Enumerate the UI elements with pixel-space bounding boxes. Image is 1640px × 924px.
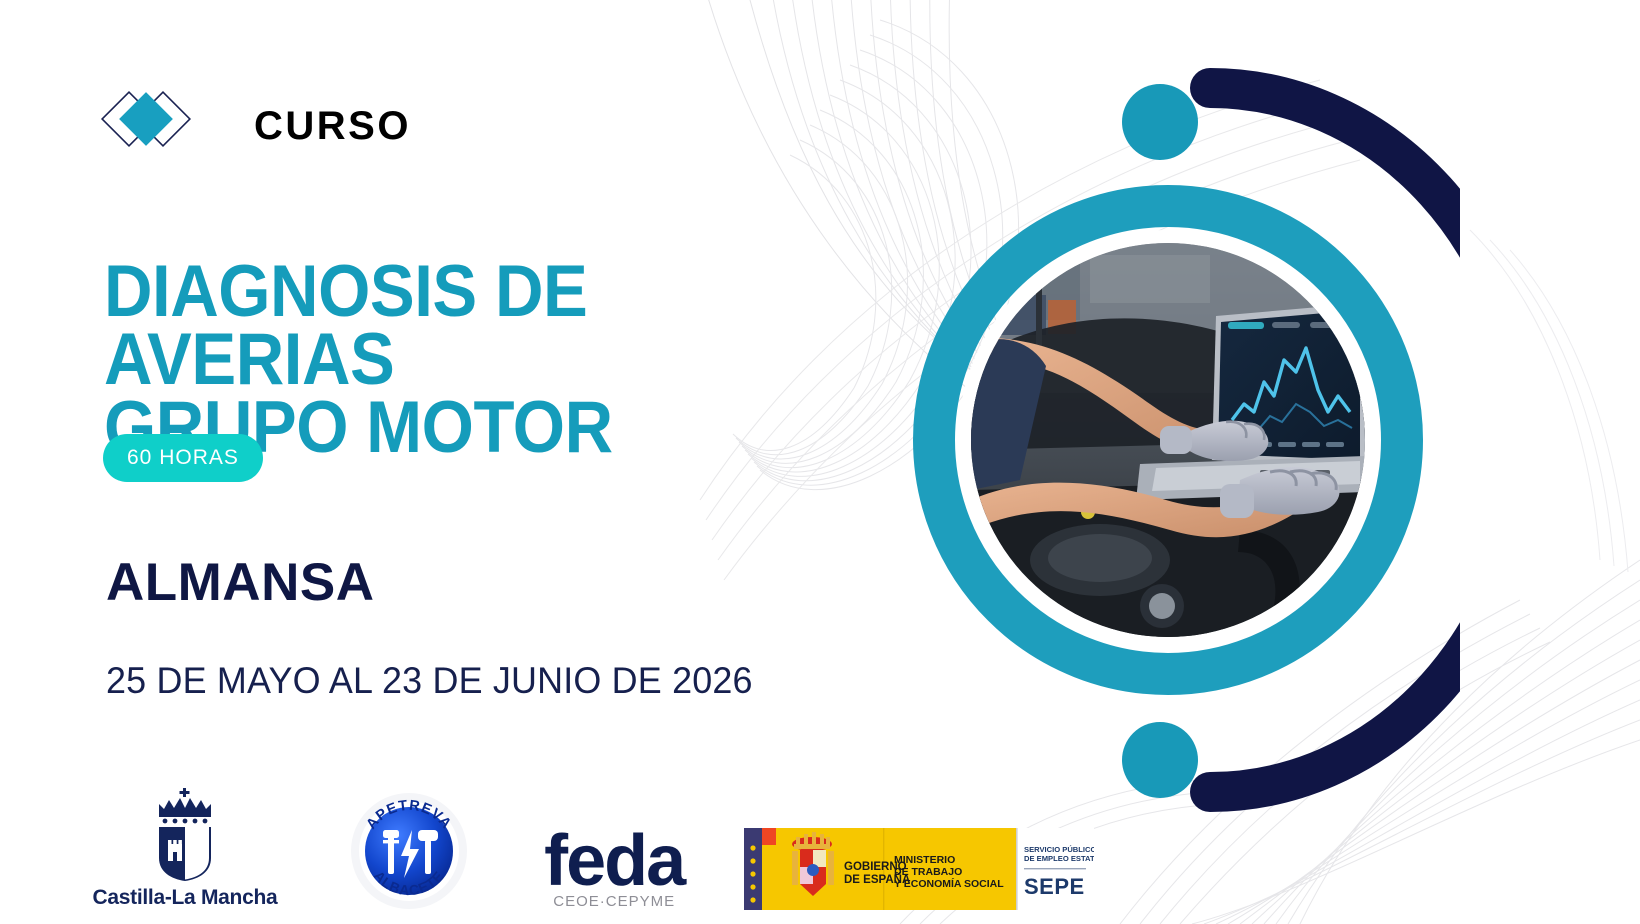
- sepe-line-2: DE EMPLEO ESTATAL: [1024, 854, 1094, 863]
- ministerio-line-1: MINISTERIO: [894, 854, 955, 866]
- page-title: DIAGNOSIS DE AVERIAS GRUPO MOTOR: [104, 258, 803, 462]
- hours-badge: 60 HORAS: [103, 434, 263, 482]
- location-text: ALMANSA: [106, 556, 374, 609]
- ministerio-line-3: Y ECONOMÍA SOCIAL: [894, 877, 1004, 890]
- shield-crown-castle-icon: [135, 786, 235, 882]
- kicker-curso: CURSO: [254, 106, 411, 146]
- logo-gobierno-sepe: GOBIERNO DE ESPAÑA MINISTERIO DE TRABAJO…: [744, 828, 1094, 910]
- diamond-logo-icon: [100, 84, 192, 168]
- logo-apetreva: APETREVA ALBACETE: [338, 792, 480, 910]
- hero-photo: [971, 243, 1365, 637]
- arc-cap-dot-top: [1122, 84, 1198, 160]
- line-art-mid-wisps: [1470, 230, 1628, 572]
- feda-wordmark: feda: [526, 832, 702, 891]
- course-poster: CURSO DIAGNOSIS DE AVERIAS GRUPO MOTOR 6…: [0, 0, 1640, 924]
- title-block: DIAGNOSIS DE AVERIAS GRUPO MOTOR: [104, 258, 864, 462]
- logo-feda: feda CEOE·CEPYME: [526, 832, 702, 910]
- sepe-line-1: SERVICIO PÚBLICO: [1024, 845, 1094, 854]
- sepe-acronym: SEPE: [1024, 874, 1085, 899]
- tools-lightning-icon: APETREVA ALBACETE: [350, 792, 468, 910]
- footer-logo-row: Castilla-La Mancha: [84, 760, 1094, 910]
- arc-cap-dot-bottom: [1122, 722, 1198, 798]
- logo-caption-castilla-la-mancha: Castilla-La Mancha: [90, 886, 280, 910]
- ministerio-line-2: DE TRABAJO: [894, 866, 962, 878]
- gobierno-sepe-block: GOBIERNO DE ESPAÑA MINISTERIO DE TRABAJO…: [744, 828, 1094, 910]
- dates-text: 25 DE MAYO AL 23 DE JUNIO DE 2026: [106, 662, 753, 699]
- logo-castilla-la-mancha: Castilla-La Mancha: [90, 786, 280, 910]
- hero-composition: [840, 60, 1460, 820]
- poster-header: CURSO: [100, 84, 411, 168]
